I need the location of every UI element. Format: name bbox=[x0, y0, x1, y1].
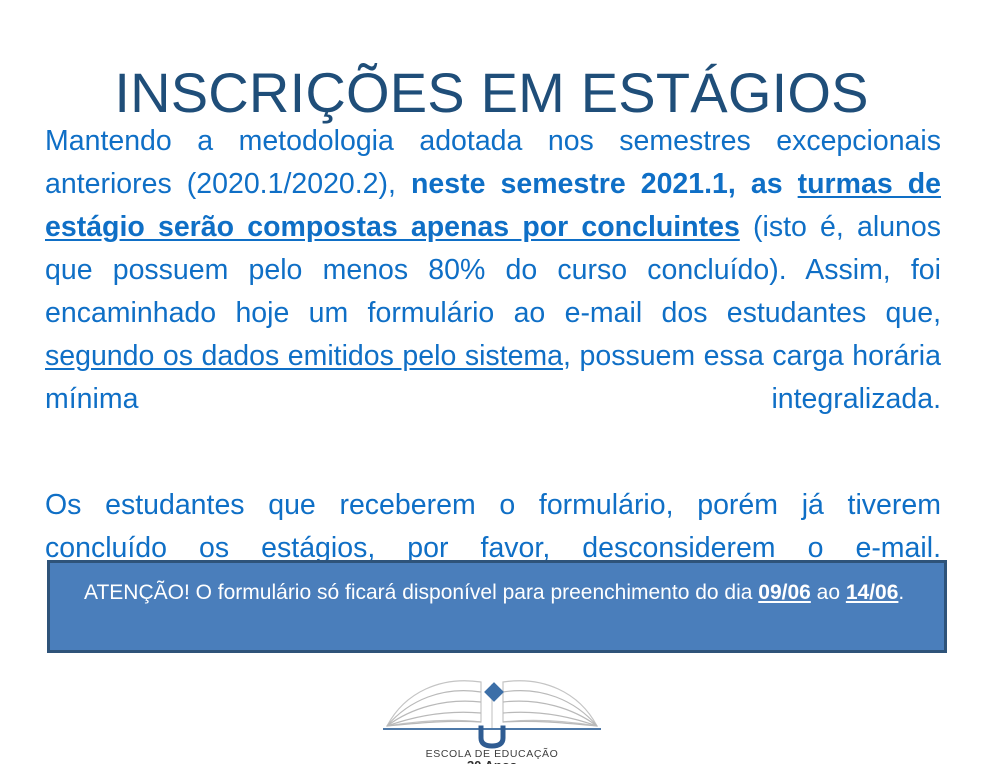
paragraph-1: Mantendo a metodologia adotada nos semes… bbox=[45, 120, 941, 464]
paragraph-1-segment-5-underline: segundo os dados emitidos pelo sistema bbox=[45, 340, 563, 372]
callout-end-date: 14/06 bbox=[846, 581, 899, 604]
logo-line-2: 30 Anos bbox=[466, 758, 516, 764]
escola-de-educacao-logo-icon: ESCOLA DE EDUCAÇÃO 30 Anos bbox=[379, 668, 605, 764]
callout-segment-1: ATENÇÃO! O formulário só ficará disponív… bbox=[84, 581, 758, 604]
paragraph-1-segment-2-bold: neste semestre 2021.1, as bbox=[411, 168, 798, 200]
callout-segment-3: ao bbox=[811, 581, 846, 604]
attention-callout-text: ATENÇÃO! O formulário só ficará disponív… bbox=[84, 577, 924, 608]
body-content: Mantendo a metodologia adotada nos semes… bbox=[45, 120, 941, 613]
callout-start-date: 09/06 bbox=[758, 581, 811, 604]
callout-segment-5: . bbox=[898, 581, 904, 604]
attention-callout-box: ATENÇÃO! O formulário só ficará disponív… bbox=[47, 560, 947, 653]
logo: ESCOLA DE EDUCAÇÃO 30 Anos bbox=[0, 668, 983, 765]
slide-canvas: INSCRIÇÕES EM ESTÁGIOS Mantendo a metodo… bbox=[0, 0, 983, 765]
paragraph-2-segment-1: Os estudantes que receberem o formulário… bbox=[45, 489, 941, 564]
page-title: INSCRIÇÕES EM ESTÁGIOS bbox=[0, 60, 983, 126]
